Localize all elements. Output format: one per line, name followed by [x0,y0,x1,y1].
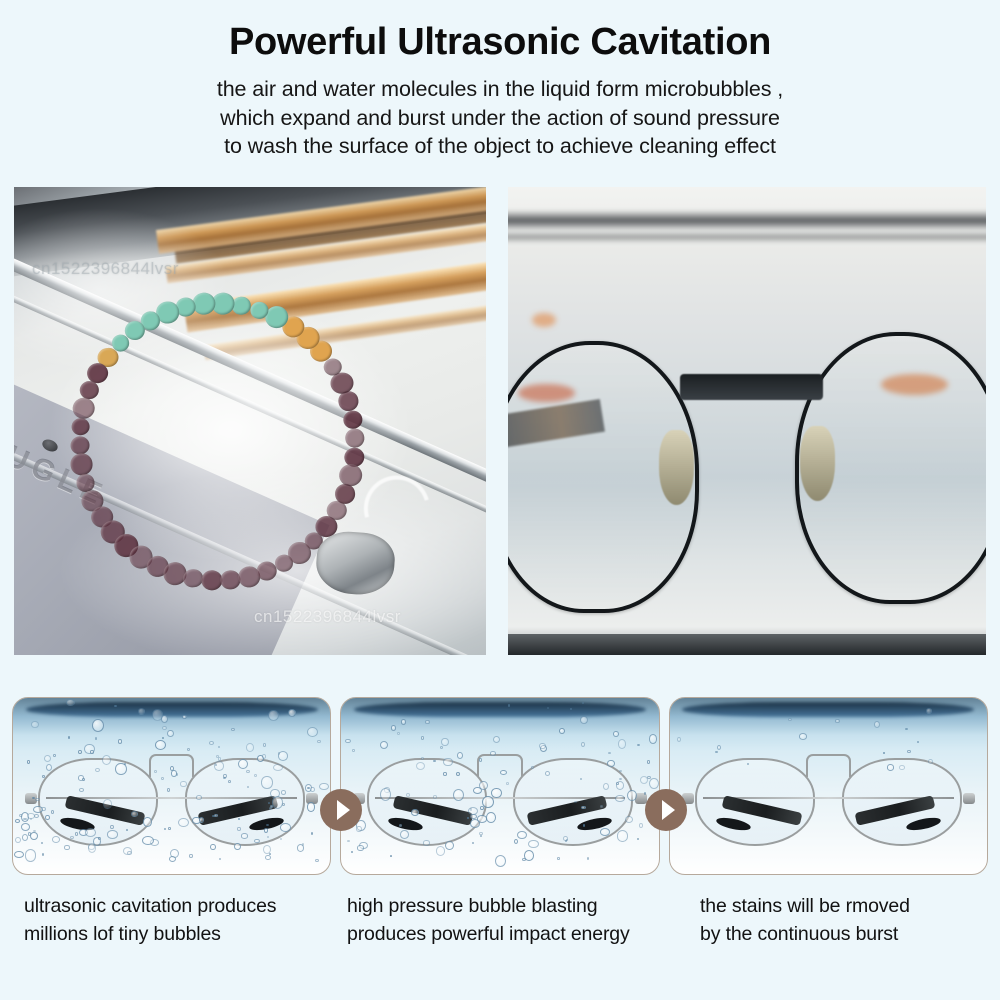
bubble [747,763,749,765]
bubble [34,814,39,818]
step-panel-3 [669,697,988,875]
bubble [574,801,577,803]
bubble [317,740,320,743]
bubble [189,854,192,857]
bubble [103,799,112,809]
bubble [357,845,363,850]
bubble [246,770,250,773]
bubble [421,757,424,761]
bubble [288,709,296,717]
bracelet-bead [76,473,96,492]
bubble [649,778,659,789]
bracelet-bead [70,417,90,436]
water-surface-band [508,231,986,243]
bubble [436,846,446,856]
bubble [169,856,176,862]
bubble [27,760,30,763]
aviator-bridge [806,754,851,777]
step-panel-row [12,697,988,875]
bubble [269,853,271,855]
watermark: cn1522396844lvsr [254,607,401,627]
bubble [482,796,493,808]
bubble [110,825,114,830]
bubble [347,840,350,842]
bubble [237,827,241,830]
bubble [443,772,447,775]
bracelet-bead [344,428,365,449]
bubble [21,823,30,831]
bubble [161,777,164,780]
bubble [491,788,501,798]
bubble [391,725,396,731]
bubble [154,770,157,773]
bubble [214,814,217,817]
bubble [162,737,164,739]
bubble [545,771,550,776]
bubble [33,806,43,813]
step-caption-2: high pressure bubble blasting produces p… [330,893,696,973]
bracelet-bead [71,396,95,419]
bubble [582,702,584,704]
bubble [425,720,429,724]
product-infographic: Powerful Ultrasonic Cavitation the air a… [0,0,1000,1000]
bubble [547,707,549,709]
bubble [528,840,538,848]
bubble [219,858,221,860]
bracelet-bead [69,452,94,476]
bubble [53,754,55,757]
photo-bracelet-in-ultrasonic-tank: AUGLE cn1522396844lvsr cn1522396844lvsr [14,187,486,655]
header: Powerful Ultrasonic Cavitation the air a… [0,0,1000,161]
bubble [557,857,561,860]
bubble [209,741,214,745]
step-captions: ultrasonic cavitation produces millions … [0,893,1000,973]
bracelet-bead [182,568,203,588]
subtitle-line-1: the air and water molecules in the liqui… [0,75,1000,104]
eyeglass-nose-pad [800,426,836,501]
bubble [28,832,31,835]
tank-bottom-edge [508,634,986,655]
bubble [619,770,621,772]
bubble [311,832,314,835]
bubble [138,708,145,715]
caption-line: ultrasonic cavitation produces [24,893,330,921]
bracelet-bead [200,569,224,592]
bubble [517,831,527,840]
bubble [70,836,74,839]
bubble [616,782,619,785]
bubble [423,840,429,845]
bubble [178,818,189,827]
bubble [254,839,260,844]
bubble [677,737,681,742]
bubble [600,828,610,836]
step-arrow-1 [320,789,362,831]
bubble [615,795,625,802]
bubble [171,770,177,776]
bubble [42,775,45,778]
bubble [281,790,286,794]
bubble [127,851,132,855]
bubble [495,855,506,867]
bubble [41,842,43,844]
watermark: cn1522396844lvsr [32,259,179,279]
bubble [78,750,82,755]
bubble [263,743,266,746]
step-panel-1 [12,697,331,875]
bubble [433,760,436,763]
bubble [649,734,658,744]
chevron-right-icon [337,800,350,820]
caption-line: by the continuous burst [700,921,1000,949]
bubble [397,732,399,734]
bubble [456,772,460,776]
step-caption-1: ultrasonic cavitation produces millions … [0,893,330,973]
bubble [522,858,526,861]
bubble [380,788,391,801]
bracelet-bead [342,409,363,429]
bubble [608,752,611,754]
bubble [246,743,255,752]
bubble [45,815,50,820]
bubble [31,721,39,727]
bubble [264,828,268,832]
bubble [79,788,84,791]
bubble [15,819,21,823]
bubble [345,739,350,744]
step-arrow-2 [645,789,687,831]
caption-line: high pressure bubble blasting [347,893,696,921]
bubble [587,857,589,860]
bubble [218,746,220,748]
aviator-glasses-illustration [695,758,962,846]
bubble [22,834,29,841]
bubble [613,731,619,737]
step-panel-2 [340,697,659,875]
bubble [302,843,304,846]
bubble [907,750,911,754]
bubble [637,744,640,746]
bubble [617,830,629,841]
bubble [241,833,248,838]
bubble [351,851,353,853]
bubble [254,774,257,777]
bubble [470,814,477,819]
bubble [64,845,69,850]
bubble [647,760,650,764]
bubble [352,749,354,751]
bubble [267,836,269,838]
bubble [307,802,315,811]
bubble [619,778,622,780]
bubble [490,751,496,755]
bubble [107,830,118,838]
bubble [835,719,840,723]
bubble [180,781,186,786]
bubble [168,827,172,830]
bubble [580,716,588,724]
subtitle-line-2: which expand and burst under the action … [0,104,1000,133]
bubble [307,727,318,737]
bubble [25,849,37,861]
caption-line: produces powerful impact energy [347,921,696,949]
bubble [88,843,96,853]
bubble [210,844,216,851]
bubble [164,828,166,830]
bubble [95,768,100,772]
bubble [508,704,510,706]
bubble [265,855,271,860]
bubble [238,759,248,769]
bubble [926,708,932,713]
bubble [280,823,292,832]
bubble [42,853,44,855]
bubble [196,795,202,800]
photo-eyeglasses-underwater [508,187,986,655]
bubble [928,759,933,764]
bubble [443,758,452,767]
bubble [262,754,266,759]
bubble [102,755,111,765]
bubble [356,826,362,833]
bubble [715,751,717,753]
bubble [559,728,565,734]
bubble [480,806,484,810]
bubble [917,741,919,743]
beaded-bracelet [56,280,378,604]
water-surface-band [508,210,986,231]
caption-line: the stains will be rmoved [700,893,1000,921]
bubble [883,752,885,754]
bubble [445,841,454,850]
bubble [570,708,572,710]
step-caption-3: the stains will be rmoved by the continu… [696,893,1000,973]
bubble [493,736,500,743]
bubble [98,837,101,840]
bubble [75,832,79,836]
page-title: Powerful Ultrasonic Cavitation [0,22,1000,63]
bubble [479,832,483,835]
subtitle-line-3: to wash the surface of the object to ach… [0,132,1000,161]
bubble [539,743,545,749]
bubble [319,783,328,790]
bubble [625,816,633,823]
bubble [234,843,240,850]
bubble [390,855,393,857]
aviator-hinge [963,793,975,804]
bubble [315,859,319,862]
bracelet-bead [69,435,90,455]
bubble [131,811,138,817]
bubble [228,780,231,783]
bubble [637,838,639,840]
bubble [399,824,402,827]
bubble [581,742,585,747]
bubble [15,837,21,843]
bubble [486,812,496,823]
bubble [473,787,482,794]
bubble [143,817,152,827]
bubble [887,764,895,770]
header-subtitle: the air and water molecules in the liqui… [0,75,1000,161]
water-surface-dark [354,702,646,718]
bubble [199,817,204,823]
bracelet-bead [79,380,99,400]
photo-row: AUGLE cn1522396844lvsr cn1522396844lvsr [14,187,986,655]
bubble [238,818,240,820]
bubble [152,709,163,720]
bubble [126,829,128,831]
bubble [310,787,315,792]
bubble [441,738,448,746]
caption-line: millions lof tiny bubbles [24,921,330,949]
bubble [639,823,643,828]
bubble [603,783,609,790]
bubble [799,733,808,740]
chevron-right-icon [662,800,675,820]
bubble [167,788,170,791]
bubble [607,760,614,767]
bubble [400,830,409,839]
bubble [187,748,190,751]
bubble [216,755,219,758]
bubble [95,737,98,739]
bubble [142,836,154,846]
bubble [90,750,94,754]
eyeglass-bridge [680,374,823,400]
bubble [261,776,272,788]
bubble [644,792,647,795]
bubble [14,851,25,859]
bubble [167,730,174,737]
